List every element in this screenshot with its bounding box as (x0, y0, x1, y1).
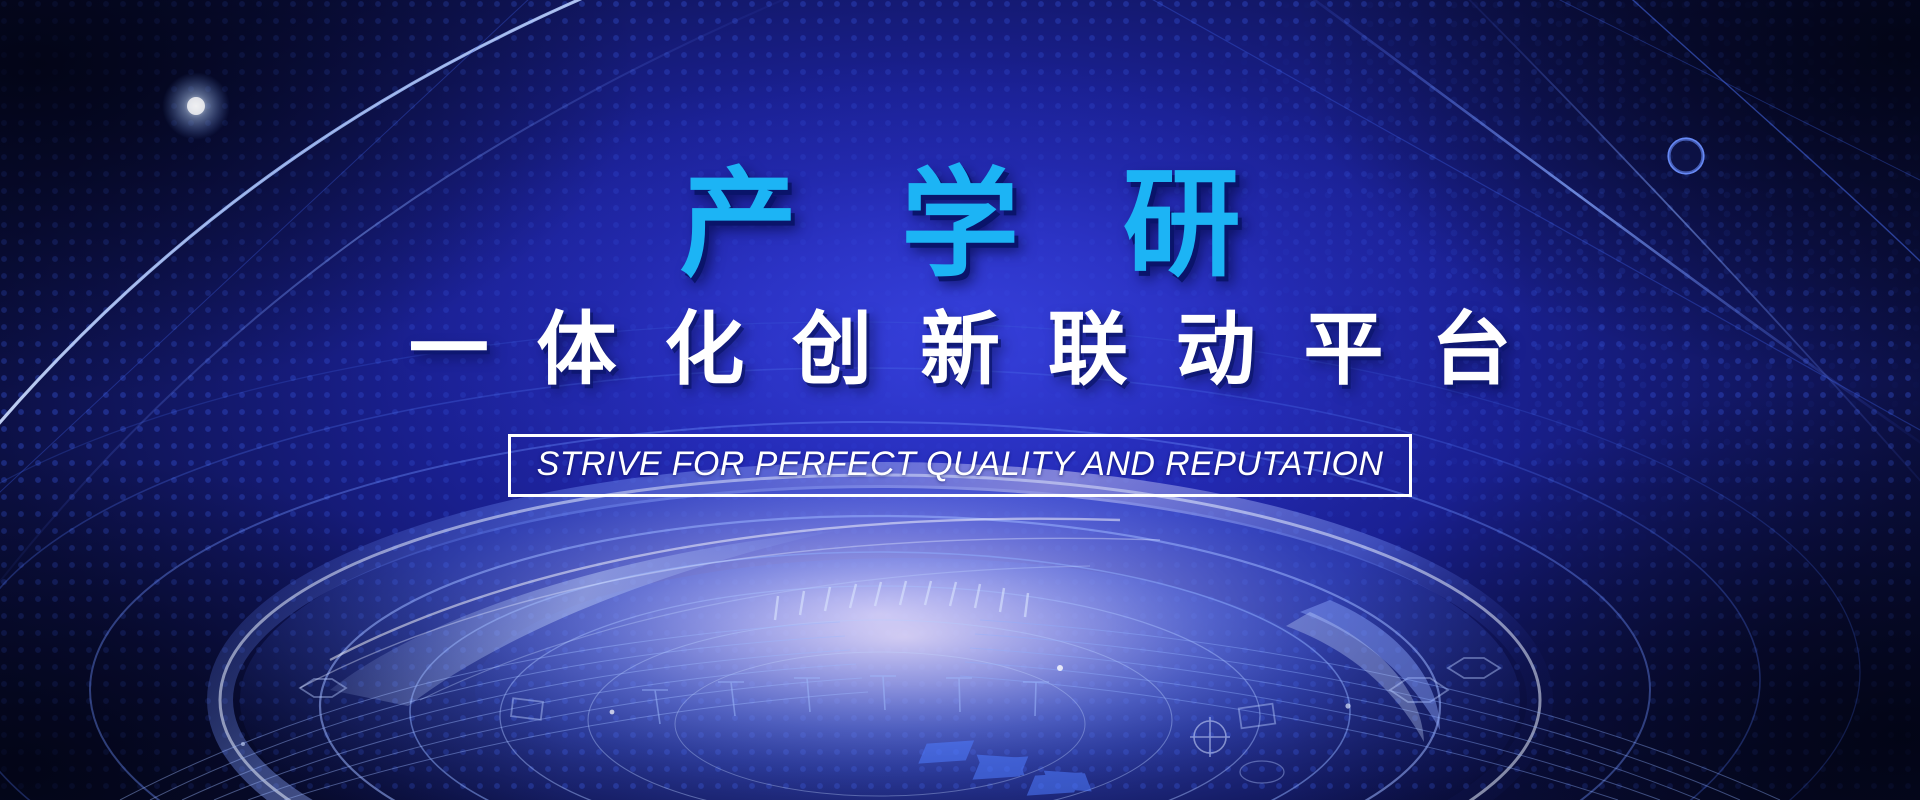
page-title-secondary: 一 体 化 创 新 联 动 平 台 (396, 310, 1524, 390)
tagline-box: STRIVE FOR PERFECT QUALITY AND REPUTATIO… (508, 434, 1413, 497)
page-title-primary: 产 学 研 (644, 166, 1276, 284)
tagline-text: STRIVE FOR PERFECT QUALITY AND REPUTATIO… (537, 446, 1384, 483)
hero-banner: 产 学 研 一 体 化 创 新 联 动 平 台 STRIVE FOR PERFE… (0, 0, 1920, 800)
banner-content: 产 学 研 一 体 化 创 新 联 动 平 台 STRIVE FOR PERFE… (0, 0, 1920, 800)
